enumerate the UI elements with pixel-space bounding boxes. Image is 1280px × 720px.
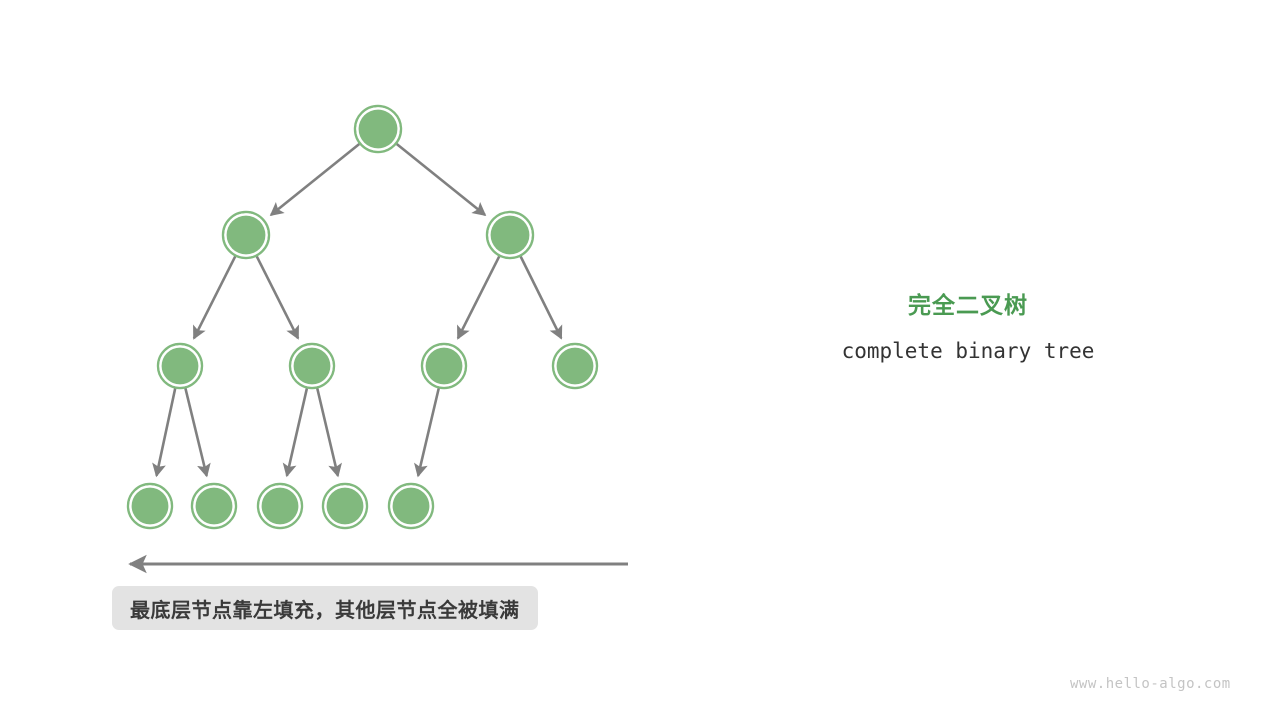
tree-edge: [185, 388, 206, 476]
tree-edge: [397, 144, 485, 215]
tree-nodes: [128, 106, 597, 528]
node-fill: [557, 348, 594, 385]
node-fill: [426, 348, 463, 385]
node-fill: [162, 348, 199, 385]
tree-node: [323, 484, 367, 528]
legend-block: 完全二叉树 complete binary tree: [768, 288, 1168, 368]
tree-edge: [271, 144, 359, 215]
legend-subtitle: complete binary tree: [768, 334, 1168, 368]
tree-node: [422, 344, 466, 388]
tree-node: [553, 344, 597, 388]
node-fill: [294, 348, 331, 385]
node-fill: [359, 110, 398, 149]
tree-edge: [521, 256, 562, 338]
tree-edge: [287, 388, 307, 475]
node-fill: [262, 488, 299, 525]
tree-edge: [257, 256, 298, 338]
node-fill: [393, 488, 430, 525]
tree-node: [223, 212, 269, 258]
caption-box: 最底层节点靠左填充，其他层节点全被填满: [112, 586, 538, 630]
tree-edge: [194, 256, 235, 338]
tree-node: [158, 344, 202, 388]
watermark: www.hello-algo.com: [1070, 676, 1231, 692]
tree-node: [355, 106, 401, 152]
tree-edge: [317, 388, 338, 475]
tree-node: [487, 212, 533, 258]
node-fill: [132, 488, 169, 525]
node-fill: [327, 488, 364, 525]
tree-node: [192, 484, 236, 528]
legend-title: 完全二叉树: [768, 288, 1168, 322]
tree-edges: [156, 144, 561, 476]
tree-edge: [458, 256, 499, 338]
node-fill: [227, 216, 266, 255]
diagram-canvas: 完全二叉树 complete binary tree 最底层节点靠左填充，其他层…: [0, 0, 1280, 720]
tree-node: [258, 484, 302, 528]
caption-text: 最底层节点靠左填充，其他层节点全被填满: [130, 594, 520, 623]
tree-edge: [418, 388, 439, 475]
node-fill: [196, 488, 233, 525]
node-fill: [491, 216, 530, 255]
tree-node: [128, 484, 172, 528]
tree-edge: [156, 388, 175, 475]
tree-node: [389, 484, 433, 528]
tree-node: [290, 344, 334, 388]
